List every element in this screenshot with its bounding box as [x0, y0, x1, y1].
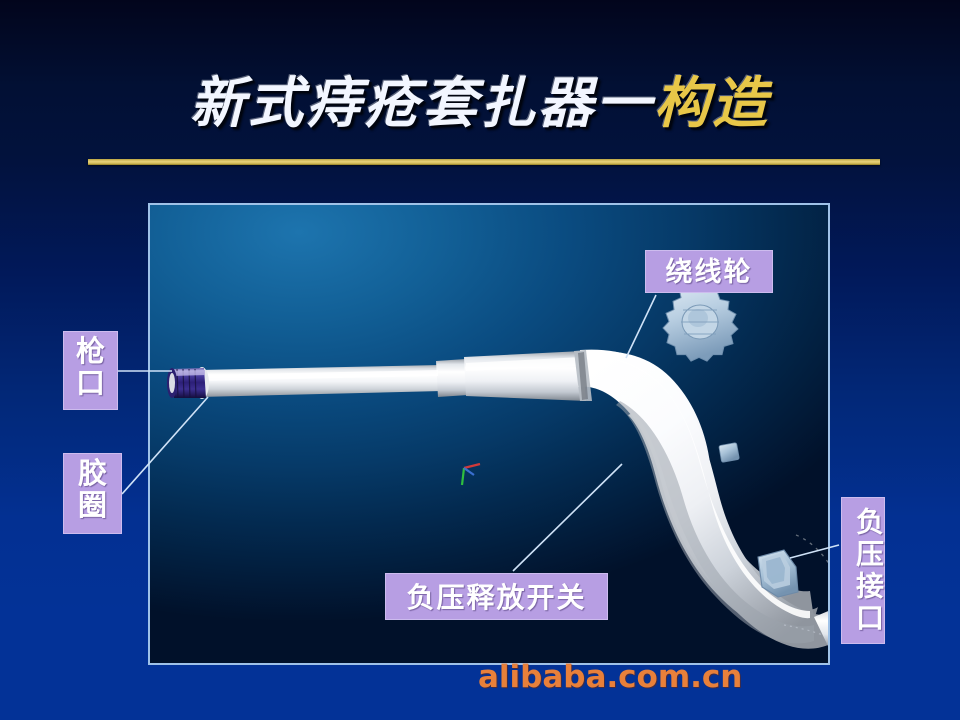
callout-vacuum-port[interactable]: 负压接口	[841, 497, 885, 644]
device-barrel-collar	[436, 359, 468, 397]
callout-rubber-ring-text: 胶圈	[78, 456, 107, 522]
callout-winding-reel-text: 绕线轮	[666, 257, 753, 288]
watermark: alibaba.com.cn	[478, 659, 742, 695]
title-divider-rule	[88, 159, 880, 165]
page-title: 新式痔疮套扎器一构造	[0, 58, 960, 138]
page-title-main: 新式痔疮套扎器一	[190, 58, 654, 138]
device-barrel	[200, 365, 442, 397]
callout-release-switch[interactable]: 负压释放开关	[385, 573, 608, 620]
callout-rubber-ring[interactable]: 胶圈	[63, 453, 122, 534]
axis-indicator	[462, 464, 480, 485]
callout-winding-reel[interactable]: 绕线轮	[645, 250, 773, 293]
callout-vacuum-port-text: 负压接口	[852, 507, 885, 635]
callout-release-switch-text: 负压释放开关	[406, 581, 586, 614]
device-small-detail-tab	[719, 443, 740, 463]
device-handle-outline	[578, 350, 828, 649]
slide-root: 新式痔疮套扎器一构造	[0, 0, 960, 720]
device-winding-reel	[663, 284, 738, 361]
callout-muzzle[interactable]: 枪口	[63, 331, 118, 410]
callout-muzzle-text: 枪口	[76, 334, 105, 400]
device-seam-dotted	[796, 535, 830, 591]
page-title-accent: 构造	[654, 58, 770, 138]
